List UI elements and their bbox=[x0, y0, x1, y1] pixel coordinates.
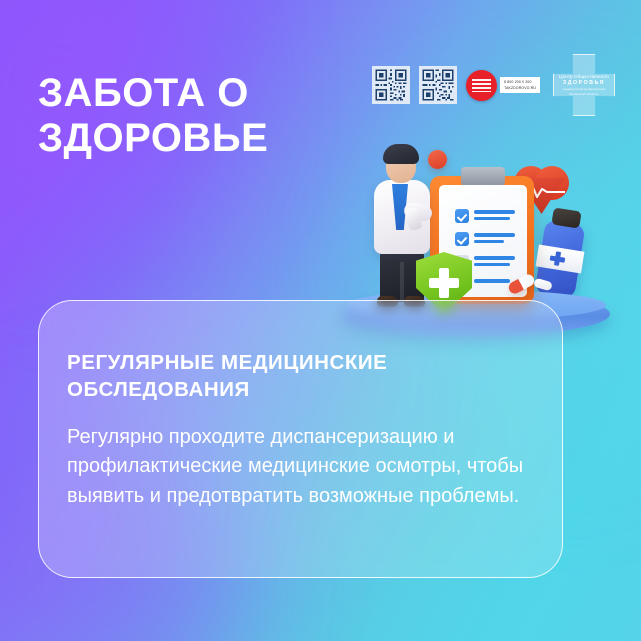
text-line bbox=[474, 256, 515, 260]
text-line bbox=[474, 217, 510, 221]
checklist-row bbox=[455, 232, 515, 246]
text-line bbox=[474, 210, 515, 214]
checklist-lines bbox=[474, 209, 515, 220]
center-logo-line1: Центр Общественного bbox=[559, 74, 609, 79]
logo-cluster: 8 800 200 0 200 TAKZDOROVO.RU Центр Обще… bbox=[372, 54, 615, 116]
info-card: РЕГУЛЯРНЫЕ МЕДИЦИНСКИЕ ОБСЛЕДОВАНИЯ Регу… bbox=[38, 300, 563, 578]
hotline-number: 8 800 200 0 200 bbox=[504, 80, 536, 84]
center-logo-line2: ЗДОРОВЬЯ bbox=[563, 80, 605, 86]
center-public-health-logo: Центр Общественного ЗДОРОВЬЯ медицинской… bbox=[553, 54, 615, 116]
text-line bbox=[474, 233, 515, 237]
checkbox-checked-icon bbox=[455, 209, 469, 223]
doctor-hair bbox=[383, 144, 419, 164]
text-line bbox=[474, 279, 510, 283]
qr-code-1-icon bbox=[372, 66, 410, 104]
clipboard-clip bbox=[461, 167, 505, 186]
checklist-lines bbox=[474, 255, 515, 266]
center-logo-text: Центр Общественного ЗДОРОВЬЯ медицинской… bbox=[553, 54, 615, 116]
center-logo-line4: Рязанской области bbox=[570, 92, 599, 96]
center-logo-line3: медицинской профилактики bbox=[563, 87, 606, 91]
hotline-site: TAKZDOROVO.RU bbox=[504, 86, 536, 90]
checklist-lines bbox=[474, 232, 515, 243]
checklist-lines bbox=[474, 278, 515, 283]
bottle-cap bbox=[551, 207, 581, 228]
page-title: ЗАБОТА О ЗДОРОВЬЕ bbox=[38, 71, 368, 162]
takzdorovo-mark bbox=[472, 79, 491, 92]
qr-code-2-icon bbox=[419, 66, 457, 104]
checkbox-checked-icon bbox=[455, 232, 469, 246]
card-body-text: Регулярно проходите диспансеризацию и пр… bbox=[67, 423, 534, 511]
card-title: РЕГУЛЯРНЫЕ МЕДИЦИНСКИЕ ОБСЛЕДОВАНИЯ bbox=[67, 349, 487, 403]
hotline-badge: 8 800 200 0 200 TAKZDOROVO.RU bbox=[466, 70, 540, 101]
hotline-text: 8 800 200 0 200 TAKZDOROVO.RU bbox=[500, 77, 540, 93]
health-poster: ЗАБОТА О ЗДОРОВЬЕ bbox=[0, 0, 641, 641]
text-line bbox=[474, 240, 504, 244]
bottle-label-cross-icon bbox=[536, 245, 585, 274]
text-line bbox=[474, 263, 510, 267]
checklist-row bbox=[455, 209, 515, 223]
takzdorovo-logo-icon bbox=[466, 70, 497, 101]
